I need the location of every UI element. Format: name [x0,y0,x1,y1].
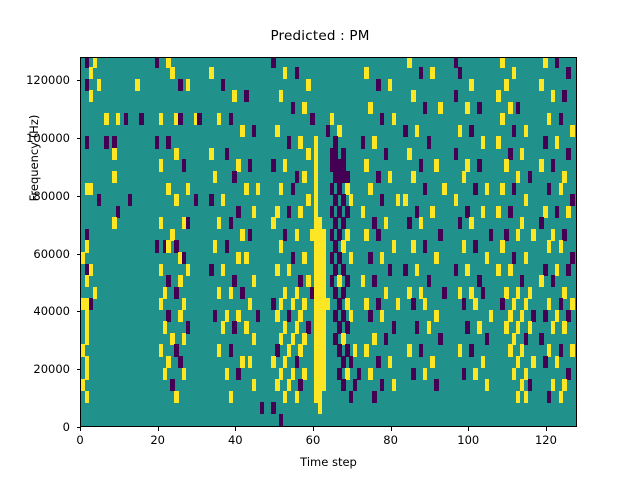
heatmap-cell [547,344,551,356]
x-tick-mark [313,427,314,431]
heatmap-cell [524,368,528,380]
heatmap-cell [337,321,341,333]
heatmap-cell [345,183,349,195]
heatmap-cell [236,310,240,322]
heatmap-cell [559,113,563,125]
heatmap-cell [454,57,458,68]
heatmap-cell [298,275,302,287]
x-tick-label: 40 [205,433,265,447]
heatmap-cell [547,391,551,403]
heatmap-cell [419,344,423,356]
heatmap-cell [539,333,543,345]
heatmap-cell [458,287,462,299]
heatmap-cell [562,379,566,391]
y-tick-label: 20000 [0,362,70,376]
heatmap-cell [322,356,326,368]
heatmap-cell [547,298,551,310]
heatmap-cell [302,298,306,310]
heatmap-cell [298,379,302,391]
heatmap-cell [361,206,365,218]
heatmap-cell [434,379,438,391]
heatmap-cell [186,183,190,195]
heatmap-cell [570,344,574,356]
heatmap-cell [423,298,427,310]
heatmap-cell [178,310,182,322]
heatmap-cell [508,148,512,160]
heatmap-cell [256,183,260,195]
heatmap-cell [524,391,528,403]
heatmap-cell [229,344,233,356]
heatmap-cell [465,159,469,171]
heatmap-cell [551,379,555,391]
heatmap-cell [225,368,229,380]
heatmap-cell [341,240,345,252]
heatmap-cell [85,57,89,68]
heatmap-cell [330,275,334,287]
heatmap-cell [322,264,326,276]
heatmap-cell [178,275,182,287]
chart-title: Predicted : PM [0,28,640,44]
heatmap-cell [314,206,318,218]
heatmap-cell [314,183,318,195]
heatmap-cell [112,171,116,183]
heatmap-cell [376,171,380,183]
heatmap-cell [170,333,174,345]
heatmap-cell [197,113,201,125]
heatmap-cell [283,159,287,171]
heatmap-cell [430,206,434,218]
heatmap-cell [520,344,524,356]
heatmap-cell [170,229,174,241]
heatmap-cell [93,287,97,299]
heatmap-cell [345,206,349,218]
heatmap-cell [512,368,516,380]
heatmap-cell [135,79,139,91]
heatmap-cell [275,310,279,322]
heatmap-cell [434,310,438,322]
x-tick-label: 60 [283,433,343,447]
heatmap-cell [528,321,532,333]
matplotlib-figure: Predicted : PM 0204060801001200200004000… [0,0,640,480]
heatmap-cell [423,240,427,252]
heatmap-cell [240,229,244,241]
heatmap-cell [252,379,256,391]
heatmap-cell [508,310,512,322]
heatmap-cell [458,67,462,79]
heatmap-cell [555,310,559,322]
heatmap-cell [178,113,182,125]
heatmap-cell [485,252,489,264]
heatmap-cell [302,102,306,114]
heatmap-cell [512,125,516,137]
heatmap-cell [244,321,248,333]
heatmap-cell [462,171,466,183]
y-tick-label: 40000 [0,304,70,318]
heatmap-cell [326,298,330,310]
heatmap-cell [85,368,89,380]
heatmap-mesh [81,58,576,426]
heatmap-cell [345,321,349,333]
heatmap-cell [520,310,524,322]
heatmap-cell [380,252,384,264]
heatmap-cell [423,368,427,380]
heatmap-cell [341,194,345,206]
heatmap-cell [516,356,520,368]
heatmap-cell [539,79,543,91]
x-tick-label: 20 [128,433,188,447]
y-tick-mark [77,254,81,255]
heatmap-cell [376,79,380,91]
y-tick-mark [77,80,81,81]
heatmap-cell [434,252,438,264]
heatmap-cell [298,206,302,218]
heatmap-cell [504,229,508,241]
heatmap-cell [407,217,411,229]
heatmap-cell [295,391,299,403]
heatmap-cell [512,298,516,310]
heatmap-cell [322,368,326,380]
heatmap-cell [240,287,244,299]
heatmap-cell [283,356,287,368]
heatmap-cell [159,298,163,310]
heatmap-cell [473,183,477,195]
heatmap-cell [438,229,442,241]
heatmap-cell [104,113,108,125]
heatmap-cell [333,264,337,276]
heatmap-cell [512,67,516,79]
heatmap-cell [411,298,415,310]
heatmap-cell [357,368,361,380]
heatmap-cell [252,125,256,137]
heatmap-cell [477,275,481,287]
heatmap-cell [562,90,566,102]
heatmap-cell [85,136,89,148]
heatmap-cell [477,321,481,333]
heatmap-cell [182,252,186,264]
heatmap-cell [345,171,349,183]
heatmap-cell [330,183,334,195]
heatmap-cell [291,298,295,310]
x-tick-label: 120 [516,433,576,447]
x-tick-mark [158,427,159,431]
heatmap-cell [341,159,345,171]
heatmap-cell [473,240,477,252]
heatmap-cell [322,310,326,322]
heatmap-cell [345,298,349,310]
heatmap-cell [221,264,225,276]
heatmap-cell [166,240,170,252]
heatmap-cell [341,287,345,299]
heatmap-cell [543,136,547,148]
heatmap-cell [302,333,306,345]
heatmap-cell [170,67,174,79]
heatmap-cell [570,194,574,206]
heatmap-cell [314,171,318,183]
heatmap-cell [279,183,283,195]
heatmap-cell [337,125,341,137]
heatmap-cell [256,310,260,322]
heatmap-cell [462,368,466,380]
heatmap-cell [427,321,431,333]
heatmap-cell [566,206,570,218]
x-tick-label: 80 [361,433,421,447]
heatmap-cell [551,90,555,102]
heatmap-cell [454,194,458,206]
x-tick-mark [391,427,392,431]
heatmap-cell [322,229,326,241]
heatmap-cell [403,194,407,206]
heatmap-cell [85,391,89,403]
heatmap-cell [376,298,380,310]
heatmap-cell [368,310,372,322]
heatmap-cell [279,298,283,310]
heatmap-cell [341,333,345,345]
heatmap-cell [182,159,186,171]
heatmap-cell [516,287,520,299]
heatmap-cell [562,171,566,183]
heatmap-cell [345,275,349,287]
heatmap-cell [364,67,368,79]
heatmap-cell [454,264,458,276]
heatmap-cell [271,217,275,229]
heatmap-cell [388,79,392,91]
heatmap-cell [516,321,520,333]
heatmap-cell [543,356,547,368]
heatmap-cell [291,102,295,114]
heatmap-cell [314,148,318,160]
heatmap-cell [388,264,392,276]
heatmap-cell [97,79,101,91]
heatmap-cell [221,79,225,91]
heatmap-cell [524,333,528,345]
heatmap-cell [419,159,423,171]
heatmap-cell [306,194,310,206]
heatmap-cell [236,206,240,218]
heatmap-cell [543,206,547,218]
heatmap-cell [314,159,318,171]
heatmap-cell [275,125,279,137]
heatmap-cell [485,379,489,391]
heatmap-cell [465,321,469,333]
heatmap-cell [411,240,415,252]
heatmap-cell [279,333,283,345]
heatmap-cell [85,333,89,345]
heatmap-cell [295,171,299,183]
heatmap-cell [423,102,427,114]
heatmap-cell [225,240,229,252]
heatmap-cell [372,275,376,287]
heatmap-cell [163,287,167,299]
heatmap-cell [318,402,322,414]
heatmap-cell [559,240,563,252]
heatmap-cell [85,240,89,252]
heatmap-cell [337,368,341,380]
heatmap-cell [236,159,240,171]
heatmap-cell [427,136,431,148]
heatmap-cell [333,148,337,160]
heatmap-cell [330,113,334,125]
heatmap-cell [291,252,295,264]
heatmap-cell [166,356,170,368]
heatmap-cell [392,240,396,252]
heatmap-cell [570,252,574,264]
heatmap-cell [547,240,551,252]
heatmap-cell [415,264,419,276]
heatmap-cell [469,125,473,137]
x-tick-mark [546,427,547,431]
heatmap-cell [217,287,221,299]
heatmap-cell [232,90,236,102]
heatmap-cell [465,264,469,276]
heatmap-cell [170,379,174,391]
heatmap-cell [166,310,170,322]
heatmap-cell [322,379,326,391]
heatmap-cell [508,264,512,276]
heatmap-cell [306,148,310,160]
heatmap-cell [287,136,291,148]
heatmap-cell [85,79,89,91]
heatmap-cell [333,217,337,229]
heatmap-cell [178,356,182,368]
heatmap-cell [128,194,132,206]
y-tick-mark [77,311,81,312]
heatmap-cell [81,252,85,264]
heatmap-cell [500,298,504,310]
heatmap-cell [166,136,170,148]
heatmap-cell [155,136,159,148]
heatmap-cell [361,275,365,287]
heatmap-cell [322,333,326,345]
heatmap-cell [496,264,500,276]
heatmap-cell [551,321,555,333]
heatmap-cell [380,194,384,206]
heatmap-cell [283,287,287,299]
heatmap-cell [186,79,190,91]
heatmap-cell [275,379,279,391]
heatmap-cell [384,148,388,160]
heatmap-cell [229,217,233,229]
heatmap-cell [388,356,392,368]
heatmap-cell [229,391,233,403]
heatmap-cell [333,333,337,345]
heatmap-cell [368,183,372,195]
heatmap-cell [372,391,376,403]
heatmap-cell [295,321,299,333]
heatmap-cell [516,102,520,114]
heatmap-cell [287,206,291,218]
heatmap-cell [458,125,462,137]
heatmap-cell [345,344,349,356]
heatmap-cell [500,240,504,252]
heatmap-cell [508,344,512,356]
heatmap-cell [423,183,427,195]
heatmap-cell [291,333,295,345]
heatmap-cell [225,148,229,160]
heatmap-cell [555,264,559,276]
heatmap-cell [213,240,217,252]
heatmap-cell [388,171,392,183]
heatmap-cell [372,333,376,345]
heatmap-cell [368,252,372,264]
heatmap-cell [85,321,89,333]
heatmap-cell [333,194,337,206]
heatmap-cell [322,275,326,287]
heatmap-cell [85,310,89,322]
heatmap-cell [524,194,528,206]
heatmap-cell [462,240,466,252]
x-tick-label: 100 [438,433,498,447]
heatmap-cell [159,113,163,125]
heatmap-cell [89,298,93,310]
heatmap-cell [252,275,256,287]
heatmap-cell [380,379,384,391]
heatmap-cell [566,67,570,79]
heatmap-cell [298,136,302,148]
heatmap-cell [566,368,570,380]
heatmap-cell [279,414,283,426]
heatmap-axes[interactable] [80,57,577,427]
heatmap-cell [473,298,477,310]
heatmap-cell [364,229,368,241]
heatmap-cell [287,264,291,276]
heatmap-cell [543,264,547,276]
heatmap-cell [384,217,388,229]
heatmap-cell [213,310,217,322]
heatmap-cell [194,194,198,206]
heatmap-cell [349,391,353,403]
heatmap-cell [306,321,310,333]
heatmap-cell [287,379,291,391]
heatmap-cell [275,206,279,218]
heatmap-cell [174,391,178,403]
heatmap-cell [516,229,520,241]
heatmap-cell [248,159,252,171]
heatmap-cell [260,402,264,414]
heatmap-cell [244,90,248,102]
heatmap-cell [430,356,434,368]
heatmap-cell [275,344,279,356]
heatmap-cell [520,148,524,160]
heatmap-cell [512,252,516,264]
heatmap-cell [403,264,407,276]
heatmap-cell [345,368,349,380]
heatmap-cell [566,148,570,160]
heatmap-cell [244,183,248,195]
heatmap-cell [155,57,159,68]
heatmap-cell [372,136,376,148]
heatmap-cell [322,344,326,356]
heatmap-cell [524,298,528,310]
heatmap-cell [271,298,275,310]
heatmap-cell [271,159,275,171]
heatmap-cell [489,229,493,241]
heatmap-cell [415,206,419,218]
heatmap-cell [481,356,485,368]
heatmap-cell [252,333,256,345]
heatmap-cell [174,344,178,356]
heatmap-cell [539,275,543,287]
heatmap-cell [559,298,563,310]
heatmap-cell [279,90,283,102]
heatmap-cell [330,229,334,241]
heatmap-cell [380,310,384,322]
heatmap-cell [520,275,524,287]
heatmap-cell [89,183,93,195]
heatmap-cell [163,368,167,380]
heatmap-cell [240,356,244,368]
heatmap-cell [174,240,178,252]
heatmap-cell [213,171,217,183]
